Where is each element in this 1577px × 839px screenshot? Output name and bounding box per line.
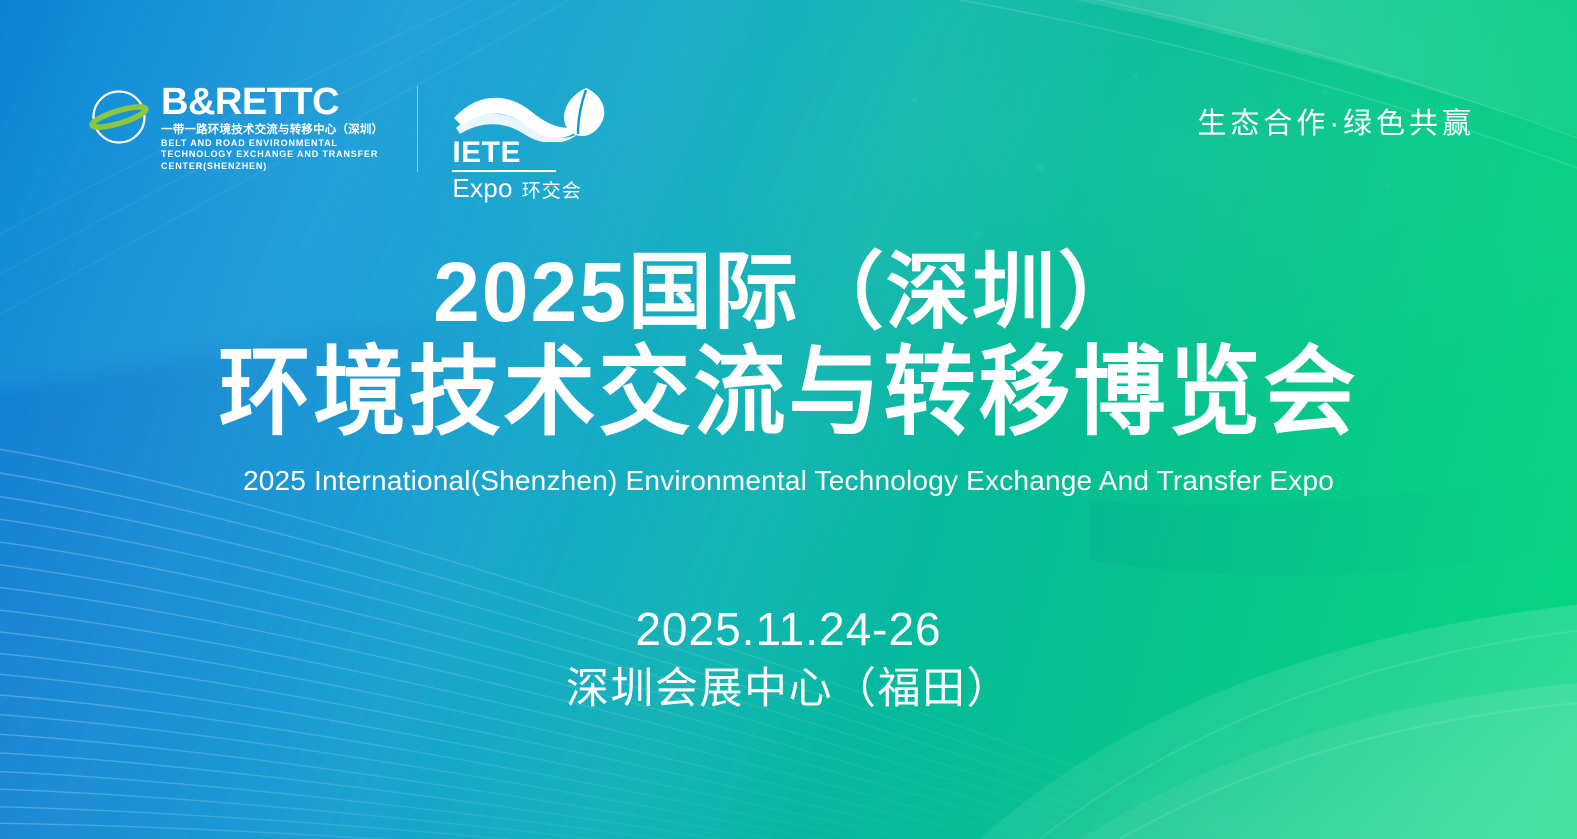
- globe-ellipse-icon: [88, 86, 150, 148]
- title-line-2: 环境技术交流与转移博览会: [218, 340, 1358, 446]
- wave-leaf-icon: [452, 84, 612, 142]
- poster-title-block: 2025国际（深圳） 环境技术交流与转移博览会 2025 Internation…: [0, 246, 1577, 498]
- iete-chinese-short: 环交会: [522, 178, 582, 206]
- brettc-chinese-name: 一带一路环境技术交流与转移中心（深圳）: [161, 123, 383, 138]
- iete-expo-logo[interactable]: IETE Expo 环交会: [452, 82, 612, 206]
- iete-expo-word: Expo: [452, 174, 512, 202]
- title-line-1: 2025国际（深圳）: [433, 246, 1144, 338]
- event-poster: B&RETTC 一带一路环境技术交流与转移中心（深圳） BELT AND ROA…: [0, 0, 1577, 839]
- poster-header: B&RETTC 一带一路环境技术交流与转移中心（深圳） BELT AND ROA…: [0, 0, 1577, 200]
- subtitle-english: 2025 International(Shenzhen) Environment…: [243, 464, 1334, 498]
- brettc-english-line-3: CENTER(SHENZHEN): [161, 161, 383, 172]
- brettc-wordmark: B&RETTC: [161, 82, 383, 122]
- iete-acronym: IETE: [452, 138, 612, 168]
- brettc-text-block: B&RETTC 一带一路环境技术交流与转移中心（深圳） BELT AND ROA…: [161, 82, 383, 172]
- event-date: 2025.11.24-26: [635, 600, 941, 658]
- brettc-english-line-2: TECHNOLOGY EXCHANGE AND TRANSFER: [161, 149, 383, 160]
- iete-underline: [452, 170, 556, 172]
- event-slogan: 生态合作·绿色共赢: [1197, 0, 1577, 142]
- logo-group: B&RETTC 一带一路环境技术交流与转移中心（深圳） BELT AND ROA…: [0, 0, 612, 206]
- logo-divider: [417, 86, 418, 172]
- brettc-english-line-1: BELT AND ROAD ENVIRONMENTAL: [161, 138, 383, 149]
- event-venue: 深圳会展中心（福田）: [566, 660, 1011, 718]
- iete-sub-row: Expo 环交会: [452, 174, 612, 206]
- brettc-logo[interactable]: B&RETTC 一带一路环境技术交流与转移中心（深圳） BELT AND ROA…: [88, 82, 383, 172]
- event-meta-block: 2025.11.24-26 深圳会展中心（福田）: [0, 600, 1577, 718]
